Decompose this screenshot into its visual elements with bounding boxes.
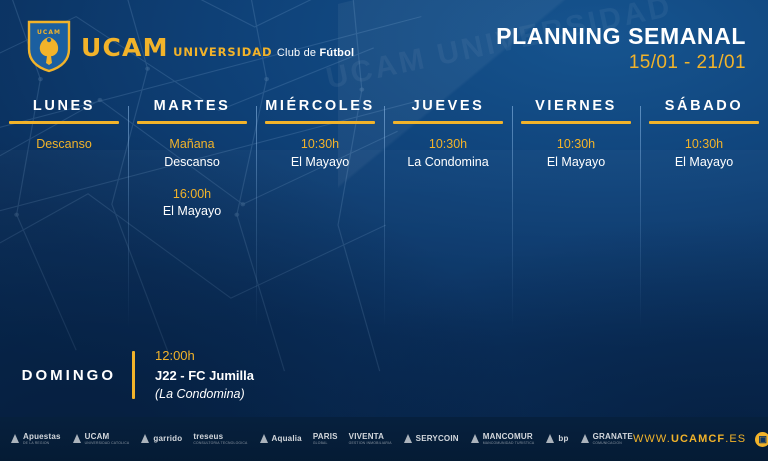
sponsor-footer: ApuestasDE LA REGIONUCAMUNIVERSIDAD CATO… xyxy=(0,417,768,461)
instagram-icon[interactable]: ▣ xyxy=(755,432,768,447)
column-divider xyxy=(256,106,257,328)
column-divider xyxy=(640,106,641,328)
sponsor-logo: PARISGLOBAL xyxy=(313,433,338,445)
sponsor-subtitle: CONSULTORIA TECNOLOGICA xyxy=(193,442,247,445)
day-entries: 10:30hEl Mayayo xyxy=(640,136,768,172)
entry-place: El Mayayo xyxy=(640,154,768,172)
helios-icon xyxy=(545,433,555,445)
schedule-entry: 10:30hEl Mayayo xyxy=(512,136,640,172)
sponsor-logo: MANCOMURMANCOMUNIDAD TURISTICA xyxy=(470,433,535,445)
day-underline xyxy=(649,121,759,124)
triangle-icon xyxy=(470,433,480,445)
g-icon xyxy=(580,433,590,445)
sponsor-logo: garrido xyxy=(140,433,182,445)
sponsor-logo: bp xyxy=(545,433,568,445)
sponsor-logo: VIVENTAGESTION INMOBILIARIA xyxy=(349,433,392,445)
social-glyph: ▣ xyxy=(758,435,767,444)
day-underline xyxy=(9,121,119,124)
svg-text:UCAM: UCAM xyxy=(37,29,61,36)
sponsor-subtitle: DE LA REGION xyxy=(23,442,61,445)
brand-tagline-light: Club de xyxy=(277,47,320,59)
sponsor-text: bp xyxy=(558,435,568,443)
day-column-martes: MARTESMañanaDescanso16:00hEl Mayayo xyxy=(128,96,256,328)
sponsor-logo: ApuestasDE LA REGION xyxy=(10,433,61,445)
gear-icon xyxy=(403,433,413,445)
brand-name: UCAM xyxy=(81,33,169,62)
sunday-row: DOMINGO 12:00h J22 - FC Jumilla (La Cond… xyxy=(0,344,768,406)
planning-poster: UCAM UNIVERSIDAD UCAM UCAM UNIVERSIDAD C… xyxy=(0,0,768,461)
day-name: MARTES xyxy=(154,98,231,114)
day-name: JUEVES xyxy=(412,98,485,114)
sponsor-subtitle: UNIVERSIDAD CATOLICA xyxy=(85,442,130,445)
website-url[interactable]: WWW.UCAMCF.ES xyxy=(633,433,746,445)
sunday-match-block: 12:00h J22 - FC Jumilla (La Condomina) xyxy=(135,346,254,404)
entry-time: 10:30h xyxy=(512,136,640,154)
brand-subtitle: UNIVERSIDAD xyxy=(173,45,272,59)
club-brand: UCAM UCAM UNIVERSIDAD Club de Fútbol xyxy=(26,19,354,73)
brand-text-block: UCAM UNIVERSIDAD Club de Fútbol xyxy=(81,33,354,60)
social-links: ▣✉f xyxy=(755,432,768,447)
entry-time: Mañana xyxy=(128,136,256,154)
schedule-entry: MañanaDescanso xyxy=(128,136,256,172)
poster-header: UCAM UCAM UNIVERSIDAD Club de Fútbol PLA… xyxy=(0,0,768,92)
entry-time: 10:30h xyxy=(256,136,384,154)
sponsor-name: treseus xyxy=(193,433,247,441)
day-entries: 10:30hLa Condomina xyxy=(384,136,512,172)
sponsor-name: MANCOMUR xyxy=(483,433,535,441)
sponsor-name: garrido xyxy=(153,435,182,443)
website-brand: UCAMCF xyxy=(671,433,725,445)
mountain-icon xyxy=(10,433,20,445)
sponsor-text: SERYCOIN xyxy=(416,435,459,443)
ucam-shield-crest-icon: UCAM xyxy=(26,19,72,73)
sponsor-logo: Aqualia xyxy=(259,433,302,445)
sunday-time: 12:00h xyxy=(155,346,254,366)
day-name: MIÉRCOLES xyxy=(265,98,375,114)
drop-icon xyxy=(259,433,269,445)
sponsor-text: ApuestasDE LA REGION xyxy=(23,433,61,445)
sponsor-logo-list: ApuestasDE LA REGIONUCAMUNIVERSIDAD CATO… xyxy=(10,433,633,445)
column-icon xyxy=(140,433,150,445)
entry-place: Descanso xyxy=(128,154,256,172)
sponsor-name: UCAM xyxy=(85,433,130,441)
sponsor-subtitle: GLOBAL xyxy=(313,442,338,445)
day-entries: 10:30hEl Mayayo xyxy=(512,136,640,172)
day-underline xyxy=(265,121,375,124)
sunday-venue: (La Condomina) xyxy=(155,385,254,404)
day-column-viernes: VIERNES10:30hEl Mayayo xyxy=(512,96,640,328)
schedule-entry: 10:30hEl Mayayo xyxy=(640,136,768,172)
sponsor-name: VIVENTA xyxy=(349,433,392,441)
sponsor-logo: UCAMUNIVERSIDAD CATOLICA xyxy=(72,433,130,445)
day-name: VIERNES xyxy=(535,98,617,114)
sponsor-name: Apuestas xyxy=(23,433,61,441)
schedule-entry: 10:30hLa Condomina xyxy=(384,136,512,172)
sponsor-name: GRANATE xyxy=(593,433,633,441)
sponsor-logo: treseusCONSULTORIA TECNOLOGICA xyxy=(193,433,247,445)
sponsor-subtitle: GESTION INMOBILIARIA xyxy=(349,442,392,445)
week-schedule-grid: LUNESDescansoMARTESMañanaDescanso16:00hE… xyxy=(0,96,768,328)
sponsor-text: treseusCONSULTORIA TECNOLOGICA xyxy=(193,433,247,445)
entry-place: El Mayayo xyxy=(512,154,640,172)
day-underline xyxy=(137,121,247,124)
sponsor-text: garrido xyxy=(153,435,182,443)
sponsor-name: PARIS xyxy=(313,433,338,441)
day-column-sábado: SÁBADO10:30hEl Mayayo xyxy=(640,96,768,328)
website-prefix: WWW. xyxy=(633,433,671,445)
seal-icon xyxy=(72,433,82,445)
sponsor-text: VIVENTAGESTION INMOBILIARIA xyxy=(349,433,392,445)
day-underline xyxy=(521,121,631,124)
sponsor-text: PARISGLOBAL xyxy=(313,433,338,445)
title-block: PLANNING SEMANAL 15/01 - 21/01 xyxy=(496,19,746,74)
day-column-lunes: LUNESDescanso xyxy=(0,96,128,328)
day-entries: 10:30hEl Mayayo xyxy=(256,136,384,172)
entry-place: La Condomina xyxy=(384,154,512,172)
schedule-entry: 10:30hEl Mayayo xyxy=(256,136,384,172)
column-divider xyxy=(128,106,129,328)
day-name: SÁBADO xyxy=(665,98,743,114)
sponsor-subtitle: COMUNICACION xyxy=(593,442,633,445)
day-underline xyxy=(393,121,503,124)
brand-tagline-bold: Fútbol xyxy=(319,47,354,59)
sponsor-name: bp xyxy=(558,435,568,443)
entry-note: Descanso xyxy=(0,136,128,154)
sponsor-text: MANCOMURMANCOMUNIDAD TURISTICA xyxy=(483,433,535,445)
brand-tagline: Club de Fútbol xyxy=(277,47,354,59)
schedule-entry: Descanso xyxy=(0,136,128,154)
sponsor-subtitle: MANCOMUNIDAD TURISTICA xyxy=(483,442,535,445)
sunday-match: J22 - FC Jumilla xyxy=(155,366,254,386)
column-divider xyxy=(512,106,513,328)
sponsor-text: UCAMUNIVERSIDAD CATOLICA xyxy=(85,433,130,445)
entry-time: 16:00h xyxy=(128,186,256,204)
sponsor-logo: GRANATECOMUNICACION xyxy=(580,433,633,445)
sponsor-name: SERYCOIN xyxy=(416,435,459,443)
date-range: 15/01 - 21/01 xyxy=(496,52,746,74)
day-entries: MañanaDescanso16:00hEl Mayayo xyxy=(128,136,256,221)
day-entries: Descanso xyxy=(0,136,128,154)
day-name: LUNES xyxy=(33,98,95,114)
column-divider xyxy=(384,106,385,328)
sponsor-name: Aqualia xyxy=(272,435,302,443)
entry-place: El Mayayo xyxy=(256,154,384,172)
entry-time: 10:30h xyxy=(384,136,512,154)
schedule-entry: 16:00hEl Mayayo xyxy=(128,186,256,222)
sponsor-text: Aqualia xyxy=(272,435,302,443)
day-column-jueves: JUEVES10:30hLa Condomina xyxy=(384,96,512,328)
website-suffix: .ES xyxy=(725,433,746,445)
entry-place: El Mayayo xyxy=(128,203,256,221)
sunday-label: DOMINGO xyxy=(0,367,132,384)
sponsor-text: GRANATECOMUNICACION xyxy=(593,433,633,445)
page-title: PLANNING SEMANAL xyxy=(496,23,746,50)
entry-time: 10:30h xyxy=(640,136,768,154)
sponsor-logo: SERYCOIN xyxy=(403,433,459,445)
day-column-miércoles: MIÉRCOLES10:30hEl Mayayo xyxy=(256,96,384,328)
